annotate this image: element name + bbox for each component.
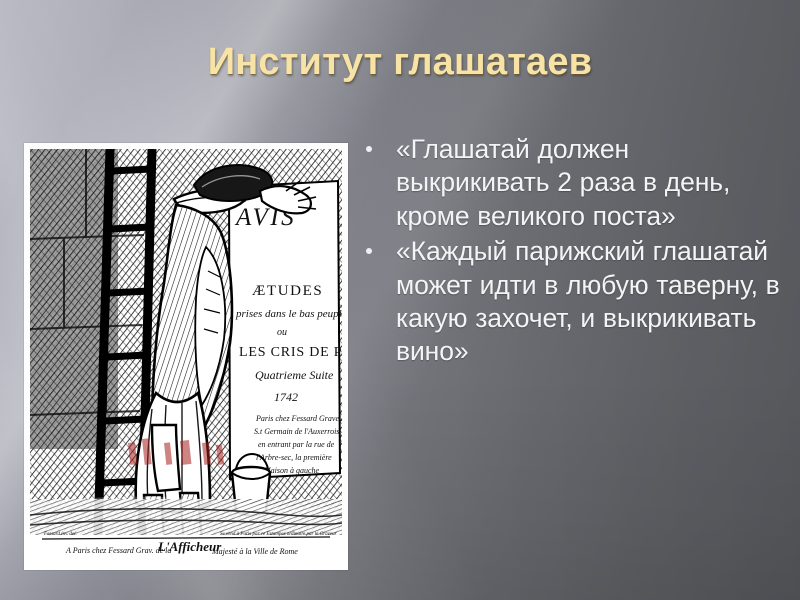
- svg-text:S.t Germain de l'Auxerrois: S.t Germain de l'Auxerrois: [254, 427, 339, 436]
- svg-text:Majesté à la Ville de Rome: Majesté à la Ville de Rome: [211, 547, 298, 556]
- svg-text:en entrant par la rue de: en entrant par la rue de: [258, 440, 335, 449]
- svg-text:Se vend à Paris par ce Estampe: Se vend à Paris par ce Estampes ordinair…: [220, 532, 337, 537]
- list-item: «Каждый парижский глашатай может идти в …: [366, 235, 786, 369]
- svg-text:LES CRIS DE PARIS: LES CRIS DE PARIS: [239, 345, 348, 360]
- svg-text:Paris chez Fessard Graveur: Paris chez Fessard Graveur: [255, 414, 347, 423]
- svg-text:l'Arbre-sec, la première: l'Arbre-sec, la première: [256, 453, 332, 462]
- svg-text:Fessard inv. del.: Fessard inv. del.: [43, 532, 77, 537]
- bullet-text: «Глашатай должен выкрикивать 2 раза в де…: [396, 133, 786, 233]
- svg-text:A Paris chez Fessard Grav. de: A Paris chez Fessard Grav. de la: [65, 546, 171, 555]
- engraving-canvas: AVIS ÆTUDES prises dans le bas peuple ou…: [24, 143, 348, 570]
- slide-title: Институт глашатаев: [0, 43, 800, 83]
- engraving-image: AVIS ÆTUDES prises dans le bas peuple ou…: [24, 143, 348, 570]
- presentation-slide: Институт глашатаев: [0, 0, 800, 600]
- bullet-text: «Каждый парижский глашатай может идти в …: [396, 235, 786, 369]
- svg-text:prises dans le bas peuple: prises dans le bas peuple: [235, 308, 347, 320]
- engraving-artwork: AVIS ÆTUDES prises dans le bas peuple ou…: [24, 143, 348, 570]
- svg-text:1742: 1742: [274, 390, 298, 404]
- svg-text:ÆTUDES: ÆTUDES: [252, 283, 323, 299]
- svg-text:ou: ou: [277, 327, 287, 338]
- bullet-dot-icon: [366, 133, 396, 152]
- bullet-dot-icon: [366, 235, 396, 254]
- bullet-list: «Глашатай должен выкрикивать 2 раза в де…: [366, 133, 786, 371]
- list-item: «Глашатай должен выкрикивать 2 раза в де…: [366, 133, 786, 233]
- svg-text:Maison à gauche: Maison à gauche: [263, 466, 320, 475]
- svg-text:Quatrieme Suite: Quatrieme Suite: [255, 368, 334, 382]
